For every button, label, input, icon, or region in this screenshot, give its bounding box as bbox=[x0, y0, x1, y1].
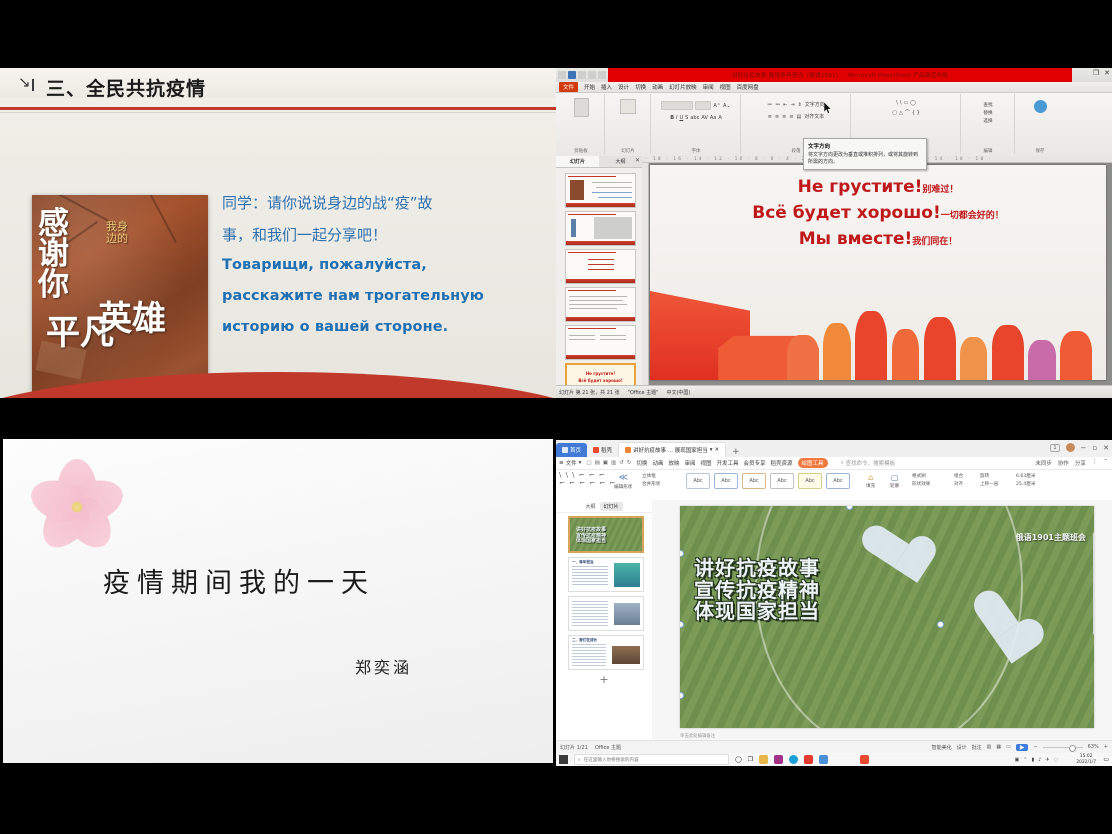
shape-effect-group[interactable]: 格式刷 形状效果 bbox=[912, 473, 930, 487]
edit-shape-label: 编辑形状 bbox=[614, 484, 632, 490]
arrange-group[interactable]: 组合 对齐 bbox=[954, 473, 963, 487]
slide-thumbnail-selected[interactable]: 1 讲好抗疫故事宣传抗疫精神体现国家担当 bbox=[568, 516, 644, 553]
shape-oval-icon[interactable]: ◯ bbox=[910, 100, 916, 106]
increase-indent-icon[interactable]: ⇥ bbox=[790, 102, 794, 108]
texture-streak bbox=[147, 195, 177, 243]
body-line: 事，和我们一起分享吧！ bbox=[222, 226, 538, 245]
ribbon-group-save[interactable]: 保存 bbox=[1016, 94, 1064, 154]
shape-arrow-icon[interactable]: \ bbox=[900, 100, 902, 106]
body-line: расскажите нам трогательную bbox=[222, 288, 538, 306]
font-color-icon[interactable]: A bbox=[718, 115, 721, 121]
document-tab-bar[interactable]: 首页 稻壳 讲好抗疫故事 ... 展现国家担当 ▾ ✕ + 1 − bbox=[556, 440, 1112, 457]
slide-canvas[interactable]: Не грустите!别难过！ Всё будет хорошо!一切都会好的… bbox=[650, 165, 1106, 380]
shape-style-swatch[interactable]: Abc bbox=[798, 473, 822, 489]
menu-item-review[interactable]: 审阅 bbox=[684, 459, 695, 467]
add-slide-icon[interactable]: + bbox=[556, 674, 652, 685]
menu-item-developer[interactable]: 开发工具 bbox=[717, 459, 739, 467]
sound-icon[interactable]: ♪ bbox=[1038, 757, 1041, 763]
tab-insert[interactable]: 插入 bbox=[601, 83, 612, 91]
align-right-icon[interactable]: ≡ bbox=[782, 114, 786, 120]
ribbon-group-clipboard[interactable]: 剪贴板 bbox=[558, 94, 605, 154]
menu-item-view[interactable]: 视图 bbox=[700, 459, 711, 467]
slide-main-text: 讲好抗疫故事 宣传抗疫精神 体现国家担当 bbox=[694, 558, 820, 623]
menu-item-docer-resources[interactable]: 稻壳资源 bbox=[771, 459, 793, 467]
paragraph-row-1[interactable]: ≔ ≕ ⇤ ⇥ ⇕ 文字方向 bbox=[767, 101, 825, 108]
fill-icon[interactable]: ⌂ bbox=[868, 473, 873, 482]
slide-thumbnail[interactable]: 18 bbox=[565, 249, 636, 284]
shrink-font-icon[interactable]: A⌄ bbox=[723, 103, 731, 109]
minimize-icon[interactable]: − bbox=[1081, 444, 1087, 452]
slide-canvas[interactable]: 讲好抗疫故事 宣传抗疫精神 体现国家担当 俄语1901主题班会 ⚙ bbox=[680, 506, 1094, 728]
shape-triangle-icon[interactable]: △ bbox=[899, 110, 903, 116]
windows-taskbar[interactable]: ⌕ 在这里输入你要搜索的内容 ◯ ❐ ▣ ⌃ ▮ ♪ ✈ ◌ bbox=[556, 753, 1112, 766]
edit-shape-icon[interactable]: ≪ bbox=[618, 473, 627, 483]
shape-curve-icon[interactable]: ⌒ bbox=[905, 109, 910, 116]
menu-item-drawing-tools[interactable]: 绘图工具 bbox=[798, 458, 828, 468]
clock[interactable]: 15:02 2022/1/7 bbox=[1076, 754, 1096, 764]
system-tray[interactable]: ▣ ⌃ ▮ ♪ ✈ ◌ bbox=[1015, 757, 1058, 763]
menu-bar[interactable]: ≡ 文件 ▾ ▢ ▤ ▣ ▥ ↺ ↻ 切换 动画 放映 审阅 视图 开发工具 bbox=[556, 457, 1112, 470]
tab-document[interactable]: 讲好抗疫故事 ... 展现国家担当 ▾ ✕ bbox=[618, 442, 726, 457]
slide-thumbnail[interactable]: 20 bbox=[565, 325, 636, 360]
tooltip-title: 文字方向 bbox=[808, 142, 922, 150]
rotate-label[interactable]: 旋转 bbox=[980, 473, 989, 479]
slide-line-1: Не грустите!别难过！ bbox=[650, 177, 1106, 197]
onenote-icon[interactable] bbox=[774, 755, 783, 764]
screen-share-grid: 三、全民共抗疫情 感 谢 你 我身边的 平凡 英雄 ！ 故事正在发生，我们正在记… bbox=[0, 0, 1112, 834]
shape-line-icon[interactable]: \ bbox=[896, 100, 898, 106]
store-icon[interactable] bbox=[819, 755, 828, 764]
slide-thumbnail[interactable]: 4 二、我们在成长 bbox=[568, 635, 644, 670]
shape-rect-icon[interactable]: ▭ bbox=[904, 100, 909, 106]
group-label: 保存 bbox=[1016, 148, 1064, 154]
group-label: 字体 bbox=[652, 148, 740, 154]
menu-item-slideshow[interactable]: 放映 bbox=[668, 459, 679, 467]
zoom-level[interactable]: 63% bbox=[1088, 744, 1099, 750]
editor-main-area: 大纲 幻灯片 1 讲好抗疫故事宣传抗疫精神体现国家担当 2 一、青年担当 bbox=[556, 500, 1112, 740]
combine-label[interactable]: 组合 bbox=[954, 473, 963, 479]
shape-style-swatch[interactable]: Abc bbox=[770, 473, 794, 489]
vivaldi-icon[interactable] bbox=[804, 755, 813, 764]
powerpoint-window: 讲好抗疫故事·展现青年担当（俄语1901） - Microsoft PowerP… bbox=[556, 68, 1112, 398]
shapes-gallery-row2[interactable]: ▢ △ ⌒ { } bbox=[892, 109, 920, 116]
collaborate-button[interactable]: 协作 bbox=[1058, 459, 1069, 467]
slide-thumbnail[interactable]: 17 bbox=[565, 211, 636, 246]
theme-name: Office 主题 bbox=[595, 744, 621, 751]
new-slide-icon[interactable] bbox=[620, 99, 636, 114]
bold-icon[interactable]: B bbox=[670, 115, 674, 121]
notification-icon[interactable]: ▭ bbox=[1103, 756, 1109, 763]
wave-dark bbox=[0, 372, 556, 398]
align-label[interactable]: 对齐 bbox=[954, 481, 963, 487]
tab-outline[interactable]: 大纲 bbox=[585, 503, 595, 510]
ribbon-tab-bar[interactable]: 文件 开始 插入 设计 切换 动画 幻灯片放映 审阅 视图 百度网盘 bbox=[556, 82, 1112, 93]
slide-editing-area[interactable]: 讲好抗疫故事 宣传抗疫精神 体现国家担当 俄语1901主题班会 ⚙ bbox=[652, 500, 1112, 740]
bring-forward-label[interactable]: 上移一层 bbox=[980, 481, 998, 487]
slide-thumbnail[interactable]: 3 bbox=[568, 596, 644, 631]
quick-access-toolbar[interactable] bbox=[556, 71, 606, 79]
underline-icon[interactable]: U bbox=[680, 115, 684, 121]
task-view-icon[interactable]: ❐ bbox=[748, 756, 753, 763]
shape-style-swatch[interactable]: Abc bbox=[686, 473, 710, 489]
drawing-tools-ribbon[interactable]: \ \ \ ⌐ ⌐ ⌐⌐ ⌐ ⌐ ⌐ ⌐ ⌐ ≪ 编辑形状 立体框 合并形状 A… bbox=[556, 470, 1112, 501]
window-controls[interactable]: ❐ ✕ bbox=[1093, 69, 1110, 77]
shapes-gallery[interactable]: \ \ ▭ ◯ bbox=[896, 100, 916, 106]
new-icon[interactable]: ▢ bbox=[586, 460, 591, 466]
italic-icon[interactable]: I bbox=[676, 115, 677, 121]
tab-slideshow[interactable]: 幻灯片放映 bbox=[669, 83, 697, 91]
align-text-icon[interactable]: 对齐文本 bbox=[804, 113, 824, 120]
status-right-controls[interactable]: 智能美化 设计 批注 ▥ ▦ ▭ ▶ − 63% + bbox=[932, 744, 1108, 751]
floating-context-toolbar[interactable]: ⚙ ✎ ✿ ▢ ◍ ▤ ▦ bbox=[1093, 532, 1094, 635]
tooltip-body: 将文字方向更改为垂直或堆积排列，或将其旋转到所需的方向。 bbox=[808, 152, 922, 166]
shape-style-swatch[interactable]: Abc bbox=[714, 473, 738, 489]
shape-brace-icon[interactable]: { } bbox=[912, 110, 920, 116]
tab-review[interactable]: 审阅 bbox=[703, 83, 714, 91]
slide-russian-encouragement: Не грустите!别难过！ Всё будет хорошо!一切都会好的… bbox=[650, 165, 1106, 380]
slide-author: 郑奕涵 bbox=[355, 654, 412, 678]
zoom-out-icon[interactable]: − bbox=[1033, 744, 1037, 750]
undo-icon[interactable] bbox=[578, 71, 586, 79]
sakura-flower-icon bbox=[31, 459, 123, 549]
editing-commands[interactable]: 查找 替换 选择 bbox=[983, 102, 992, 125]
slide-thumbnail-pane[interactable]: 幻灯片 大纲 ✕ 16 bbox=[556, 156, 643, 386]
thumbnail-pane-tabs[interactable]: 幻灯片 大纲 bbox=[556, 156, 642, 168]
slide-counter: 幻灯片 第 21 张，共 21 张 bbox=[559, 389, 620, 396]
slide-thumbnail-pane[interactable]: 大纲 幻灯片 1 讲好抗疫故事宣传抗疫精神体现国家担当 2 一、青年担当 bbox=[556, 500, 653, 740]
font-family-box[interactable] bbox=[661, 101, 693, 110]
explorer-icon[interactable] bbox=[759, 755, 768, 764]
shadow-icon[interactable]: S bbox=[685, 115, 688, 121]
mouse-cursor-icon bbox=[824, 102, 831, 112]
zoom-slider[interactable] bbox=[1043, 747, 1083, 748]
status-bar: 幻灯片 第 21 张，共 21 张 "Office 主题" 中文(中国) bbox=[556, 385, 1112, 398]
ppt-file-icon bbox=[625, 447, 631, 453]
group-label: 编辑 bbox=[962, 148, 1014, 154]
ribbon-group-font[interactable]: A⌃ A⌄ B I U S abc AV Aa A 字体 bbox=[652, 94, 741, 154]
slide-line-1: 讲好抗疫故事 bbox=[694, 558, 820, 580]
battery-icon[interactable]: ▮ bbox=[1031, 757, 1034, 763]
page-title: 三、全民共抗疫情 bbox=[46, 74, 206, 101]
char-spacing-icon[interactable]: AV bbox=[701, 115, 708, 121]
design-button[interactable]: 设计 bbox=[957, 744, 967, 751]
menu-right-actions[interactable]: 未同步 协作 分享 ⋮ ⌃ bbox=[1035, 459, 1108, 467]
reading-view-icon[interactable]: ▭ bbox=[1006, 744, 1011, 750]
slide-corner-text: 俄语1901主题班会 bbox=[1016, 532, 1086, 543]
cortana-icon[interactable]: ◯ bbox=[735, 756, 742, 763]
tab-docer[interactable]: 稻壳 bbox=[587, 443, 618, 457]
tab-baidu-netdisk[interactable]: 百度网盘 bbox=[737, 83, 759, 91]
align-left-icon[interactable]: ≡ bbox=[768, 114, 772, 120]
more-icon[interactable]: ⋮ bbox=[1092, 459, 1098, 467]
app-badge-icon: 1 bbox=[1050, 444, 1059, 452]
pane-top-right-powerpoint: 讲好抗疫故事·展现青年担当（俄语1901） - Microsoft PowerP… bbox=[556, 68, 1112, 398]
body-line: историю о вашей стороне. bbox=[222, 319, 538, 337]
fill-group[interactable]: ⌂ 填充 bbox=[866, 473, 875, 489]
quick-command-icons[interactable]: ▢ ▤ ▣ ▥ ↺ ↻ bbox=[586, 460, 631, 466]
red-wave-decoration bbox=[0, 352, 556, 398]
slide-thumbnail[interactable]: 2 一、青年担当 bbox=[568, 557, 644, 592]
command-search[interactable]: ⌕ 查找命令、搜索模板 bbox=[841, 459, 896, 467]
text-direction-icon[interactable]: 文字方向 bbox=[805, 101, 825, 108]
tab-close-icon[interactable]: ✕ bbox=[715, 447, 720, 453]
pane-bottom-left-slide: 疫情期间我的一天 郑奕涵 bbox=[0, 436, 556, 766]
language-indicator[interactable]: 中文(中国) bbox=[666, 389, 690, 396]
poster-word-right: 英雄 bbox=[98, 303, 166, 335]
down-right-arrow-icon bbox=[20, 79, 36, 93]
slide-line-3: Мы вместе!我们同在！ bbox=[650, 229, 1106, 249]
slide-line-3: 体现国家担当 bbox=[694, 601, 820, 623]
comment-button[interactable]: 批注 bbox=[972, 744, 982, 751]
sorter-view-icon[interactable]: ▦ bbox=[996, 744, 1001, 750]
header-rule bbox=[0, 107, 556, 110]
merge-shape-label[interactable]: 合并形状 bbox=[642, 481, 660, 487]
theme-name: "Office 主题" bbox=[628, 389, 659, 396]
paste-icon[interactable] bbox=[574, 98, 589, 117]
numbering-icon[interactable]: ≕ bbox=[775, 102, 780, 108]
window-title: 讲好抗疫故事·展现青年担当（俄语1901） - Microsoft PowerP… bbox=[608, 68, 1072, 82]
font-style-controls[interactable]: B I U S abc AV Aa A bbox=[670, 115, 722, 121]
paragraph-row-2[interactable]: ≡ ≡ ≡ ≡ ▤ 对齐文本 bbox=[768, 113, 825, 120]
wps-office-window: 首页 稻壳 讲好抗疫故事 ... 展现国家担当 ▾ ✕ + 1 − bbox=[556, 440, 1112, 766]
wps-icon[interactable] bbox=[860, 755, 869, 764]
grow-font-icon[interactable]: A⌃ bbox=[713, 103, 721, 109]
open-icon[interactable]: ▤ bbox=[595, 460, 600, 466]
status-bar: 幻灯片 1/21 Office 主题 智能美化 设计 批注 ▥ ▦ ▭ ▶ − … bbox=[556, 740, 1112, 753]
shape-square-icon[interactable]: ▢ bbox=[892, 110, 897, 116]
up-arrow-icon[interactable]: ⌃ bbox=[1023, 757, 1027, 763]
slide-line-2: 宣传抗疫精神 bbox=[694, 580, 820, 602]
change-case-icon[interactable]: Aa bbox=[710, 115, 716, 121]
slide-thumbnail[interactable]: 16 bbox=[565, 173, 636, 208]
menu-item-transitions[interactable]: 切换 bbox=[636, 459, 647, 467]
redo-icon[interactable]: ↻ bbox=[627, 460, 632, 466]
crowd-silhouette-illustration bbox=[650, 281, 1106, 380]
file-menu[interactable]: ≡ 文件 ▾ bbox=[559, 459, 581, 467]
print-icon[interactable]: ▥ bbox=[611, 460, 616, 466]
close-icon[interactable]: ✕ bbox=[1104, 69, 1110, 77]
find-icon[interactable]: 查找 bbox=[983, 102, 992, 110]
slide-kangyi-story: 讲好抗疫故事 宣传抗疫精神 体现国家担当 俄语1901主题班会 bbox=[680, 506, 1094, 728]
body-line: 同学：请你说说身边的战“疫”故 bbox=[222, 194, 538, 213]
network-icon[interactable]: ✈ bbox=[1045, 757, 1049, 763]
font-size-controls[interactable]: A⌃ A⌄ bbox=[661, 101, 730, 110]
shape-style-gallery[interactable]: Abc Abc Abc Abc Abc Abc bbox=[686, 473, 850, 489]
tab-animations[interactable]: 动画 bbox=[652, 83, 663, 91]
slide-quanmin-kangyi: 三、全民共抗疫情 感 谢 你 我身边的 平凡 英雄 ！ 故事正在发生，我们正在记… bbox=[0, 68, 556, 398]
tab-transitions[interactable]: 切换 bbox=[635, 83, 646, 91]
tab-file[interactable]: 文件 bbox=[559, 82, 578, 92]
window-controls[interactable]: 1 − ▫ ✕ bbox=[1050, 443, 1109, 452]
group-label: 剪贴板 bbox=[558, 148, 604, 154]
clock-date: 2022/1/7 bbox=[1076, 760, 1096, 765]
slide-editing-area[interactable]: · 18 · 16 · 14 · 12 · 10 · 8 · 6 · 4 · 2… bbox=[642, 156, 1112, 386]
strikethrough-icon[interactable]: abc bbox=[690, 115, 699, 121]
tab-slides[interactable]: 幻灯片 bbox=[556, 156, 599, 167]
font-size-box[interactable] bbox=[695, 101, 711, 110]
align-center-icon[interactable]: ≡ bbox=[775, 114, 779, 120]
cloud-icon[interactable]: ◌ bbox=[1054, 757, 1058, 763]
save-icon[interactable] bbox=[568, 71, 576, 79]
search-input[interactable]: ⌕ 在这里输入你要搜索的内容 bbox=[574, 754, 729, 765]
home-icon bbox=[562, 447, 568, 453]
tab-design[interactable]: 设计 bbox=[618, 83, 629, 91]
body-line: Товарищи, пожалуйста, bbox=[222, 257, 538, 275]
ribbon-group-slides[interactable]: 幻灯片 bbox=[606, 94, 651, 154]
share-button[interactable]: 分享 bbox=[1075, 459, 1086, 467]
poster-main-text: 感 谢 你 bbox=[38, 209, 108, 300]
outline-label: 轮廓 bbox=[890, 483, 899, 489]
insert-shape-label[interactable]: 立体框 bbox=[642, 473, 656, 479]
baidu-netdisk-icon[interactable] bbox=[1034, 100, 1047, 113]
edit-shape-group[interactable]: ≪ 编辑形状 bbox=[614, 473, 632, 490]
slide-line-2: Всё будет хорошо!一切都会好的！ bbox=[650, 203, 1106, 223]
windows-start-icon[interactable] bbox=[559, 755, 568, 764]
menu-item-member[interactable]: 会员专享 bbox=[744, 459, 766, 467]
ime-icon[interactable]: ▣ bbox=[1015, 757, 1020, 763]
restore-icon[interactable]: ▫ bbox=[1092, 444, 1097, 452]
justify-icon[interactable]: ≡ bbox=[789, 114, 793, 120]
chevron-down-icon[interactable]: ▾ bbox=[579, 460, 582, 466]
edge-icon[interactable] bbox=[789, 755, 798, 764]
pane-top-left-slide: 三、全民共抗疫情 感 谢 你 我身边的 平凡 英雄 ！ 故事正在发生，我们正在记… bbox=[0, 68, 556, 398]
vertical-ruler bbox=[642, 163, 649, 386]
outline-icon[interactable]: ▢ bbox=[891, 473, 899, 482]
avatar[interactable] bbox=[1066, 443, 1075, 452]
select-icon[interactable]: 选择 bbox=[983, 118, 992, 126]
search-icon: ⌕ bbox=[578, 757, 581, 763]
docer-icon bbox=[593, 447, 599, 453]
merge-shape-group[interactable]: 立体框 合并形状 bbox=[642, 473, 660, 487]
hamburger-icon[interactable]: ≡ bbox=[559, 460, 564, 466]
shape-width-value[interactable]: 25.4厘米 bbox=[1016, 481, 1035, 487]
poster-side-text: 我身边的 bbox=[106, 221, 128, 246]
normal-view-icon[interactable]: ▥ bbox=[987, 744, 992, 750]
line-spacing-icon[interactable]: ⇕ bbox=[798, 102, 802, 108]
slide-thumbnail[interactable]: 19 bbox=[565, 287, 636, 322]
tab-view[interactable]: 视图 bbox=[720, 83, 731, 91]
shape-style-swatch[interactable]: Abc bbox=[826, 473, 850, 489]
search-icon: ⌕ bbox=[841, 460, 844, 467]
thumbnail-pane-tabs[interactable]: 大纲 幻灯片 bbox=[556, 500, 652, 513]
replace-icon[interactable]: 替换 bbox=[983, 110, 992, 118]
pane-bottom-right-wps: 首页 稻壳 讲好抗疫故事 ... 展现国家担当 ▾ ✕ + 1 − bbox=[556, 440, 1112, 766]
size-group[interactable]: 6.63厘米 25.4厘米 bbox=[1016, 473, 1035, 487]
shape-height-value[interactable]: 6.63厘米 bbox=[1016, 473, 1035, 479]
redo-icon[interactable] bbox=[588, 71, 596, 79]
menu-item-animations[interactable]: 动画 bbox=[652, 459, 663, 467]
tooltip-text-direction: 文字方向 将文字方向更改为垂直或堆积排列，或将其旋转到所需的方向。 bbox=[803, 138, 927, 170]
slide-index: 幻灯片 1/21 bbox=[560, 744, 588, 751]
slide-title: 疫情期间我的一天 bbox=[103, 561, 375, 600]
decrease-indent-icon[interactable]: ⇤ bbox=[783, 102, 787, 108]
tab-home[interactable]: 首页 bbox=[556, 443, 587, 457]
shape-effect-label[interactable]: 形状效果 bbox=[912, 481, 930, 487]
smart-beautify-button[interactable]: 智能美化 bbox=[932, 744, 952, 751]
fill-label: 填充 bbox=[866, 483, 875, 489]
header-rule-secondary bbox=[0, 112, 556, 113]
notes-placeholder[interactable]: 单击此处编辑备注 bbox=[680, 733, 715, 739]
undo-icon[interactable]: ↺ bbox=[619, 460, 624, 466]
restore-icon[interactable]: ❐ bbox=[1093, 69, 1099, 77]
columns-icon[interactable]: ▤ bbox=[797, 114, 802, 120]
title-bar: 讲好抗疫故事·展现青年担当（俄语1901） - Microsoft PowerP… bbox=[556, 68, 1112, 82]
tab-home[interactable]: 开始 bbox=[584, 83, 595, 91]
save-icon[interactable]: ▣ bbox=[603, 460, 608, 466]
customize-qat-icon[interactable] bbox=[598, 71, 606, 79]
tab-slides[interactable]: 幻灯片 bbox=[600, 502, 623, 511]
outline-group[interactable]: ▢ 轮廓 bbox=[890, 473, 899, 489]
format-painter-label[interactable]: 格式刷 bbox=[912, 473, 926, 479]
work-area: 幻灯片 大纲 ✕ 16 bbox=[556, 156, 1112, 386]
close-icon[interactable]: ✕ bbox=[635, 157, 640, 164]
bullets-icon[interactable]: ≔ bbox=[767, 102, 772, 108]
close-icon[interactable]: ✕ bbox=[1103, 444, 1109, 452]
order-group[interactable]: 旋转 上移一层 bbox=[980, 473, 998, 487]
powerpoint-logo-icon bbox=[558, 71, 566, 79]
slide-my-day: 疫情期间我的一天 郑奕涵 bbox=[0, 436, 556, 766]
ribbon-group-editing[interactable]: 查找 替换 选择 编辑 bbox=[962, 94, 1015, 154]
play-slideshow-button[interactable]: ▶ bbox=[1016, 744, 1029, 751]
sync-status[interactable]: 未同步 bbox=[1035, 459, 1052, 467]
shape-presets-gallery[interactable]: \ \ \ ⌐ ⌐ ⌐⌐ ⌐ ⌐ ⌐ ⌐ ⌐ bbox=[559, 472, 616, 487]
tab-dropdown-icon[interactable]: ▾ bbox=[710, 447, 713, 453]
new-tab-icon[interactable]: + bbox=[726, 447, 746, 457]
collapse-ribbon-icon[interactable]: ⌃ bbox=[1103, 459, 1108, 467]
group-label: 幻灯片 bbox=[606, 148, 650, 154]
shape-style-swatch[interactable]: Abc bbox=[742, 473, 766, 489]
zoom-in-icon[interactable]: + bbox=[1104, 744, 1108, 750]
slide-body-text: 同学：请你说说身边的战“疫”故 事，和我们一起分享吧！ Товарищи, по… bbox=[222, 194, 538, 350]
